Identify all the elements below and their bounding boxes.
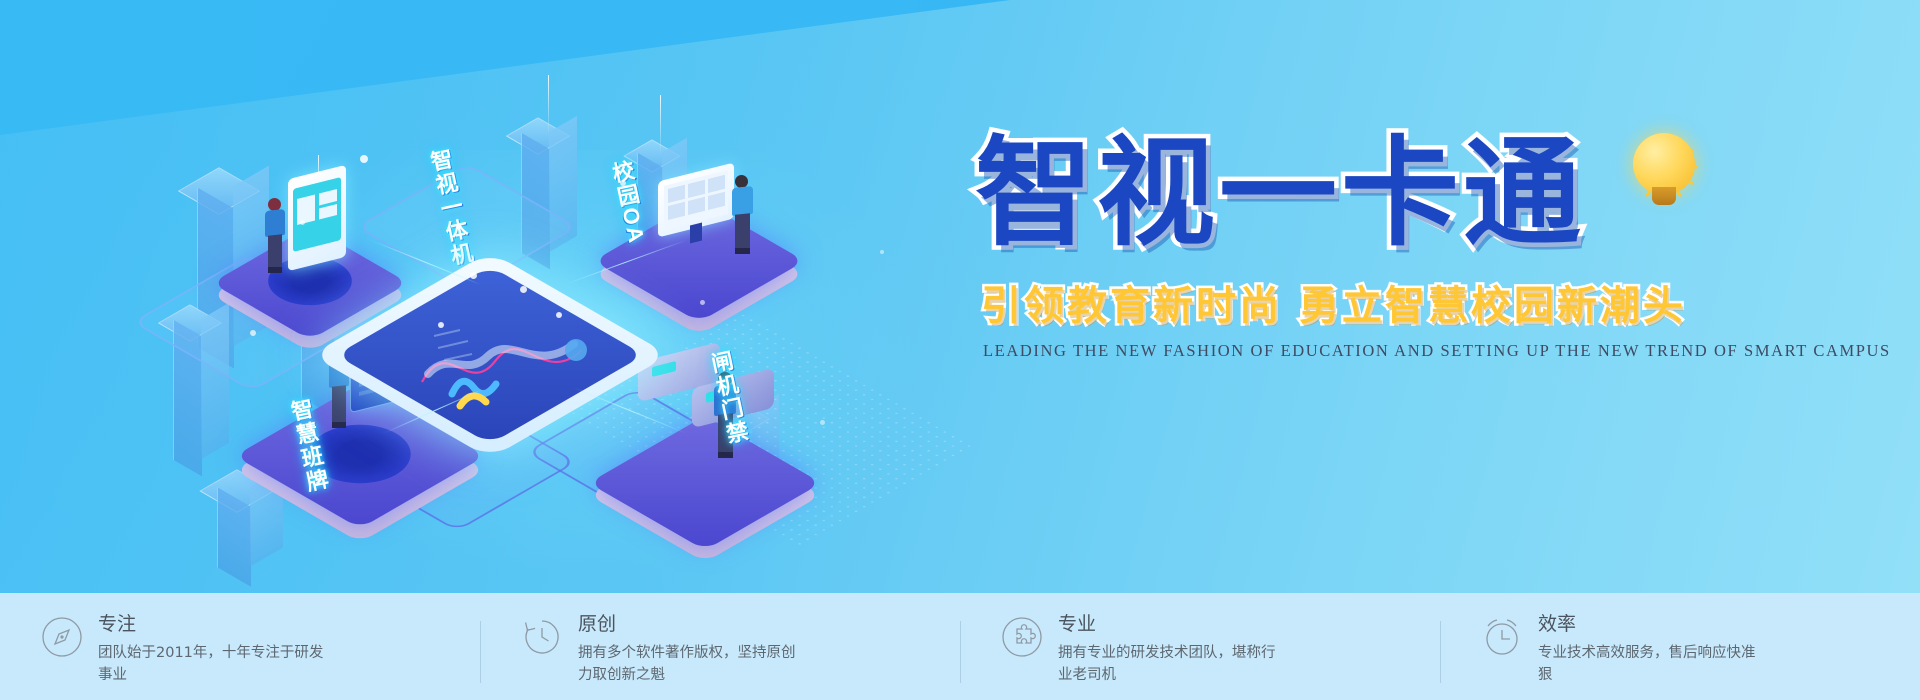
isometric-city-illustration: 智视一体机 校园OA xyxy=(0,0,1000,600)
feature-item-original[interactable]: 原创 拥有多个软件著作版权，坚持原创力取创新之魁 xyxy=(480,607,960,687)
banner-english-tagline: LEADING THE NEW FASHION OF EDUCATION AND… xyxy=(983,341,1735,361)
alarm-clock-icon xyxy=(1480,615,1524,659)
page-title: 智视一卡通 xyxy=(975,130,1735,257)
building-antenna-2 xyxy=(548,75,549,135)
feature-desc: 团队始于2011年，十年专注于研发事业 xyxy=(98,642,328,687)
clock-rewind-icon xyxy=(520,615,564,659)
feature-title: 专注 xyxy=(98,609,328,636)
feature-desc: 拥有专业的研发技术团队，堪称行业老司机 xyxy=(1058,642,1288,687)
feature-title: 专业 xyxy=(1058,609,1288,636)
feature-title: 原创 xyxy=(578,609,808,636)
feature-desc: 拥有多个软件著作版权，坚持原创力取创新之魁 xyxy=(578,642,808,687)
building-antenna-3 xyxy=(660,95,661,155)
feature-item-professional[interactable]: 专业 拥有专业的研发技术团队，堪称行业老司机 xyxy=(960,607,1440,687)
compass-icon xyxy=(40,615,84,659)
feature-bar: 专注 团队始于2011年，十年专注于研发事业 原创 拥有多个软件著作版权，坚持原… xyxy=(0,593,1920,700)
promo-banner: 智视一体机 校园OA xyxy=(0,0,1920,700)
feature-title: 效率 xyxy=(1538,609,1768,636)
banner-subtitle: 引领教育新时尚 勇立智慧校园新潮头 xyxy=(981,273,1735,331)
banner-text-block: 智视一卡通 引领教育新时尚 勇立智慧校园新潮头 LEADING THE NEW … xyxy=(975,130,1735,361)
dashboard-chart-line xyxy=(404,278,604,428)
feature-item-focus[interactable]: 专注 团队始于2011年，十年专注于研发事业 xyxy=(0,607,480,687)
all-in-one-screen xyxy=(288,165,346,271)
feature-item-efficiency[interactable]: 效率 专业技术高效服务，售后响应快准狠 xyxy=(1440,607,1920,687)
puzzle-piece-icon xyxy=(1000,615,1044,659)
feature-desc: 专业技术高效服务，售后响应快准狠 xyxy=(1538,642,1768,687)
